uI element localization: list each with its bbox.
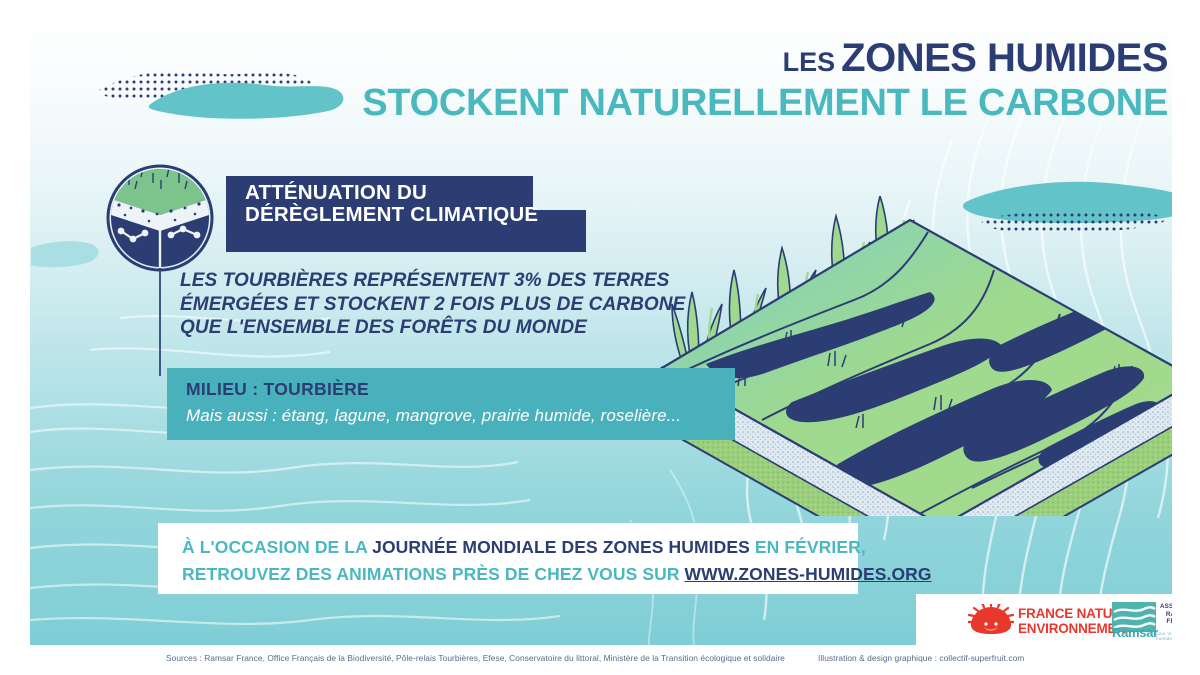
ramsar-association-text: ASSOCIATION RAMSAR FRANCE [1160,603,1172,626]
peatland-isometric-block [642,196,1172,516]
ramsar-assoc-l1: ASSOCIATION [1160,603,1172,611]
soil-cross-section-icon [105,163,215,273]
logo-strip: FRANCE NATURE ENVIRONNEMENT Ramsar ASSOC… [916,594,1172,645]
callout-l1-highlight: JOURNÉE MONDIALE DES ZONES HUMIDES [372,537,750,557]
ramsar-assoc-l3: FRANCE [1160,618,1172,626]
page-title: LESZONES HUMIDES STOCKENT NATURELLEMENT … [362,38,1168,122]
title-zones-humides: ZONES HUMIDES [841,36,1168,80]
callout-l1-c: EN FÉVRIER, [750,537,866,557]
badge-line-2: DÉRÈGLEMENT CLIMATIQUE [245,204,538,226]
milieu-box: MILIEU : TOURBIÈRE Mais aussi : étang, l… [167,368,735,440]
milieu-title: MILIEU : TOURBIÈRE [186,379,369,400]
badge-attenuation: ATTÉNUATION DU DÉRÈGLEMENT CLIMATIQUE [226,176,586,252]
callout-line-1: À L'OCCASION DE LA JOURNÉE MONDIALE DES … [182,537,866,558]
callout-l2-a: RETROUVEZ DES ANIMATIONS PRÈS DE CHEZ VO… [182,564,685,584]
sources-text: Sources : Ramsar France, Office Français… [166,653,785,663]
logo-ramsar: Ramsar ASSOCIATION RAMSAR FRANCE pour le… [1112,600,1172,640]
callout-l1-a: À L'OCCASION DE LA [182,537,372,557]
badge-text: ATTÉNUATION DU DÉRÈGLEMENT CLIMATIQUE [245,182,538,226]
ramsar-tagline: pour les zones humides [1156,631,1172,641]
title-line-1: LESZONES HUMIDES [362,38,1168,78]
intro-line-2: ÉMERGÉES ET STOCKENT 2 FOIS PLUS DE CARB… [180,293,650,317]
intro-line-1: LES TOURBIÈRES REPRÉSENTENT 3% DES TERRE… [180,269,650,293]
infographic-poster: ATTÉNUATION DU DÉRÈGLEMENT CLIMATIQUE LE… [0,0,1200,675]
badge-line-1: ATTÉNUATION DU [245,182,538,204]
badge-connector-line [159,268,161,376]
hedgehog-icon [968,604,1014,636]
ramsar-wordmark: Ramsar [1112,625,1158,640]
callout-line-2: RETROUVEZ DES ANIMATIONS PRÈS DE CHEZ VO… [182,564,932,585]
credits-bar: Sources : Ramsar France, Office Français… [0,645,1200,675]
milieu-subtitle: Mais aussi : étang, lagune, mangrove, pr… [186,406,681,426]
logo-france-nature-environnement: FRANCE NATURE ENVIRONNEMENT [968,602,1118,638]
design-credit-text: Illustration & design graphique : collec… [818,653,1024,663]
ramsar-assoc-l2: RAMSAR [1160,611,1172,619]
cloud-decoration-left-small [31,236,101,276]
event-callout-card: À L'OCCASION DE LA JOURNÉE MONDIALE DES … [158,523,858,594]
cloud-decoration-top-left [90,45,390,125]
intro-paragraph: LES TOURBIÈRES REPRÉSENTENT 3% DES TERRE… [180,269,650,340]
intro-line-3: QUE L'ENSEMBLE DES FORÊTS DU MONDE [180,316,650,340]
title-line-2: STOCKENT NATURELLEMENT LE CARBONE [362,84,1168,122]
title-les: LES [783,47,836,77]
website-link[interactable]: WWW.ZONES-HUMIDES.ORG [685,564,932,584]
